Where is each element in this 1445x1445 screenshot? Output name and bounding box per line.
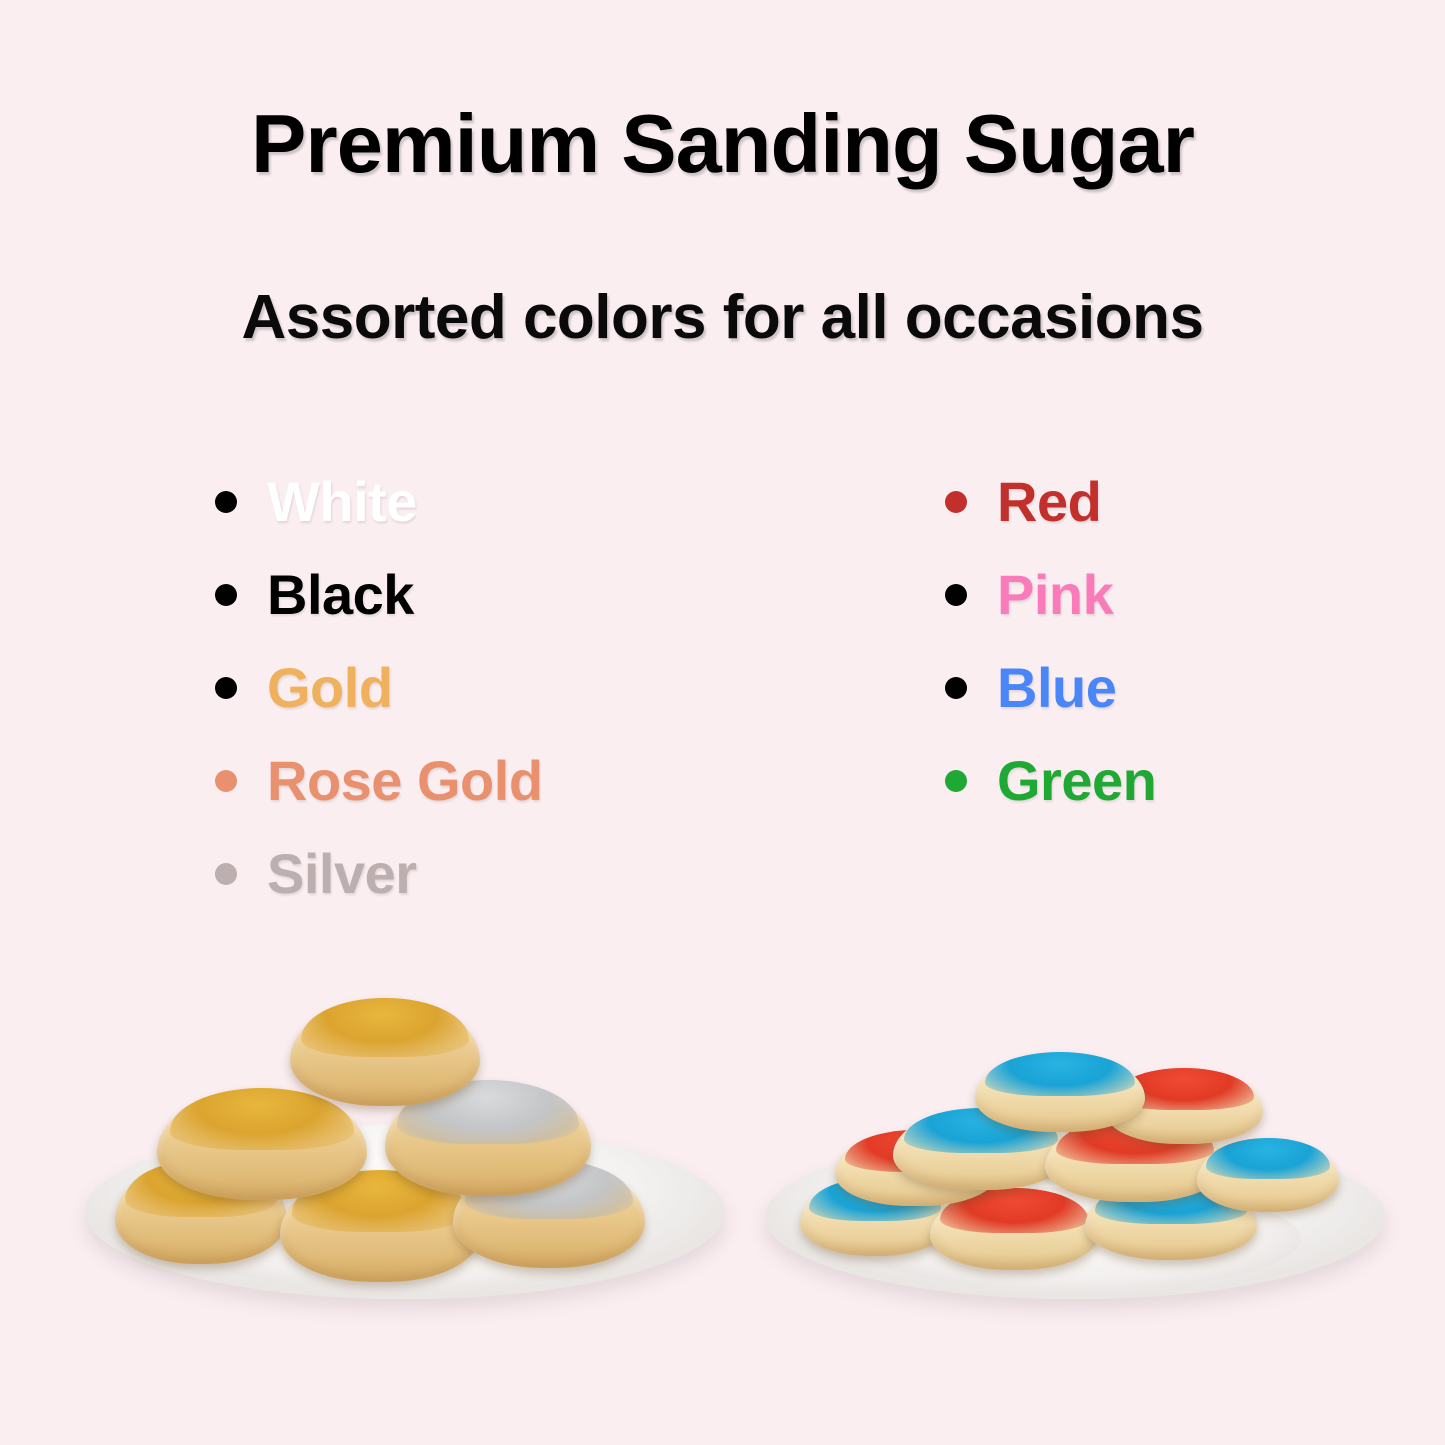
photo-cookies-red-blue xyxy=(745,1030,1405,1305)
color-label-blue: Blue xyxy=(997,660,1116,716)
list-item: Blue xyxy=(945,641,1156,734)
bullet-icon xyxy=(945,491,967,513)
page-title: Premium Sanding Sugar xyxy=(0,100,1445,187)
color-label-black: Black xyxy=(267,567,414,623)
color-label-rose-gold: Rose Gold xyxy=(267,753,543,809)
color-list-right: Red Pink Blue Green xyxy=(945,455,1156,827)
bullet-icon xyxy=(945,770,967,792)
list-item: Pink xyxy=(945,548,1156,641)
color-label-red: Red xyxy=(997,474,1101,530)
bullet-icon xyxy=(215,770,237,792)
cookie xyxy=(157,1088,367,1200)
list-item: Rose Gold xyxy=(215,734,543,827)
cookie xyxy=(975,1052,1145,1132)
color-label-white: White xyxy=(267,474,417,530)
cookie xyxy=(1197,1138,1339,1212)
color-list-left: White Black Gold Rose Gold Silver xyxy=(215,455,543,920)
bullet-icon xyxy=(215,491,237,513)
bullet-icon xyxy=(945,584,967,606)
page-subtitle: Assorted colors for all occasions xyxy=(0,285,1445,350)
color-options: White Black Gold Rose Gold Silver xyxy=(0,455,1445,925)
bullet-icon xyxy=(215,584,237,606)
color-label-green: Green xyxy=(997,753,1156,809)
cookie xyxy=(290,998,480,1106)
list-item: Green xyxy=(945,734,1156,827)
list-item: White xyxy=(215,455,543,548)
bullet-icon xyxy=(215,863,237,885)
list-item: Silver xyxy=(215,827,543,920)
product-photos xyxy=(0,955,1445,1355)
bullet-icon xyxy=(945,677,967,699)
color-label-gold: Gold xyxy=(267,660,393,716)
color-label-pink: Pink xyxy=(997,567,1113,623)
list-item: Black xyxy=(215,548,543,641)
bullet-icon xyxy=(215,677,237,699)
list-item: Gold xyxy=(215,641,543,734)
color-label-silver: Silver xyxy=(267,846,417,902)
photo-cookies-gold-silver xyxy=(75,960,735,1305)
product-infographic: Premium Sanding Sugar Assorted colors fo… xyxy=(0,0,1445,1445)
list-item: Red xyxy=(945,455,1156,548)
